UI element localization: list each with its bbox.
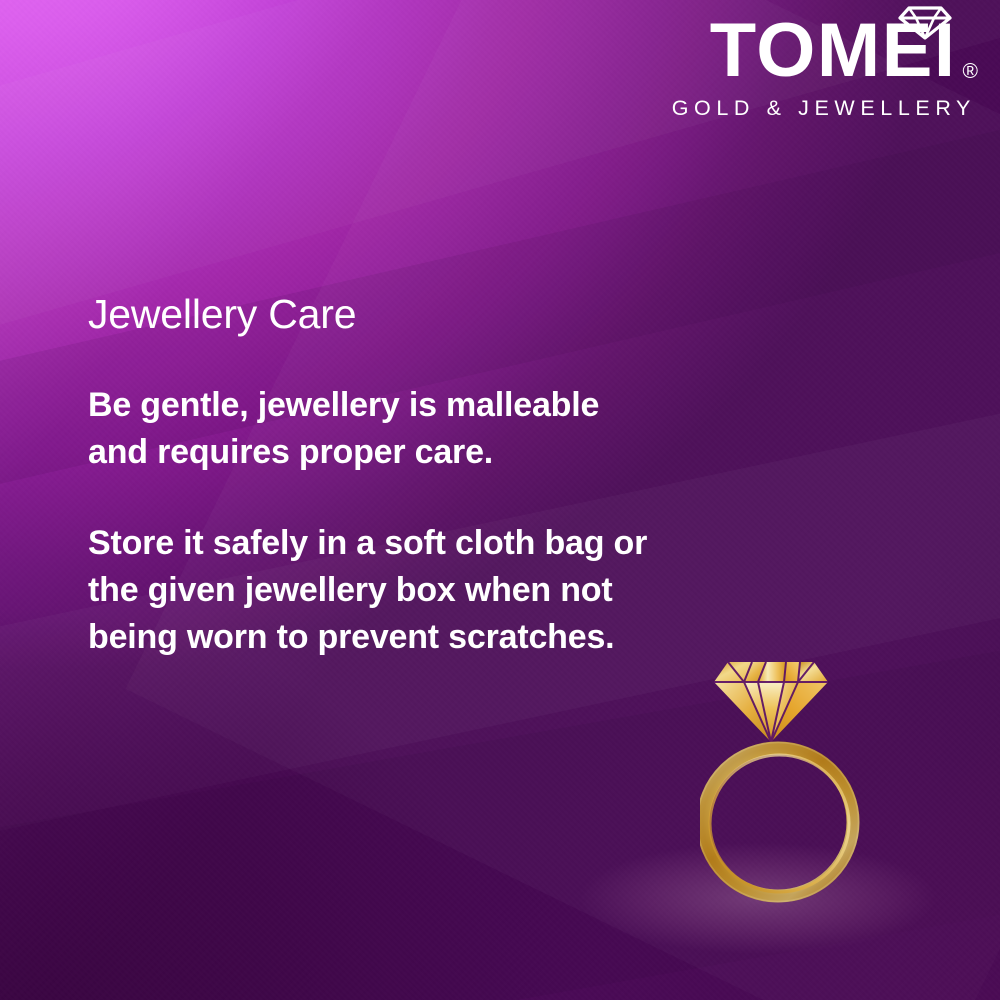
registered-trademark-icon: ® [963, 61, 978, 82]
jewellery-care-banner: TOMEI ® GOLD & JEWELLERY Jewellery Care … [0, 0, 1000, 1000]
gold-diamond-ring-illustration [700, 650, 900, 910]
ring-band-icon [700, 743, 859, 902]
care-paragraph-1: Be gentle, jewellery is malleable and re… [88, 382, 668, 476]
brand-wordmark-row: TOMEI ® [648, 8, 978, 94]
diamond-solid-icon [714, 662, 828, 742]
care-paragraph-2: Store it safely in a soft cloth bag or t… [88, 520, 668, 661]
brand-tagline: GOLD & JEWELLERY [648, 96, 978, 121]
page-title: Jewellery Care [88, 292, 668, 337]
care-copy-block: Jewellery Care Be gentle, jewellery is m… [88, 292, 668, 661]
brand-logo: TOMEI ® GOLD & JEWELLERY [648, 8, 978, 121]
diamond-outline-icon [898, 6, 952, 40]
